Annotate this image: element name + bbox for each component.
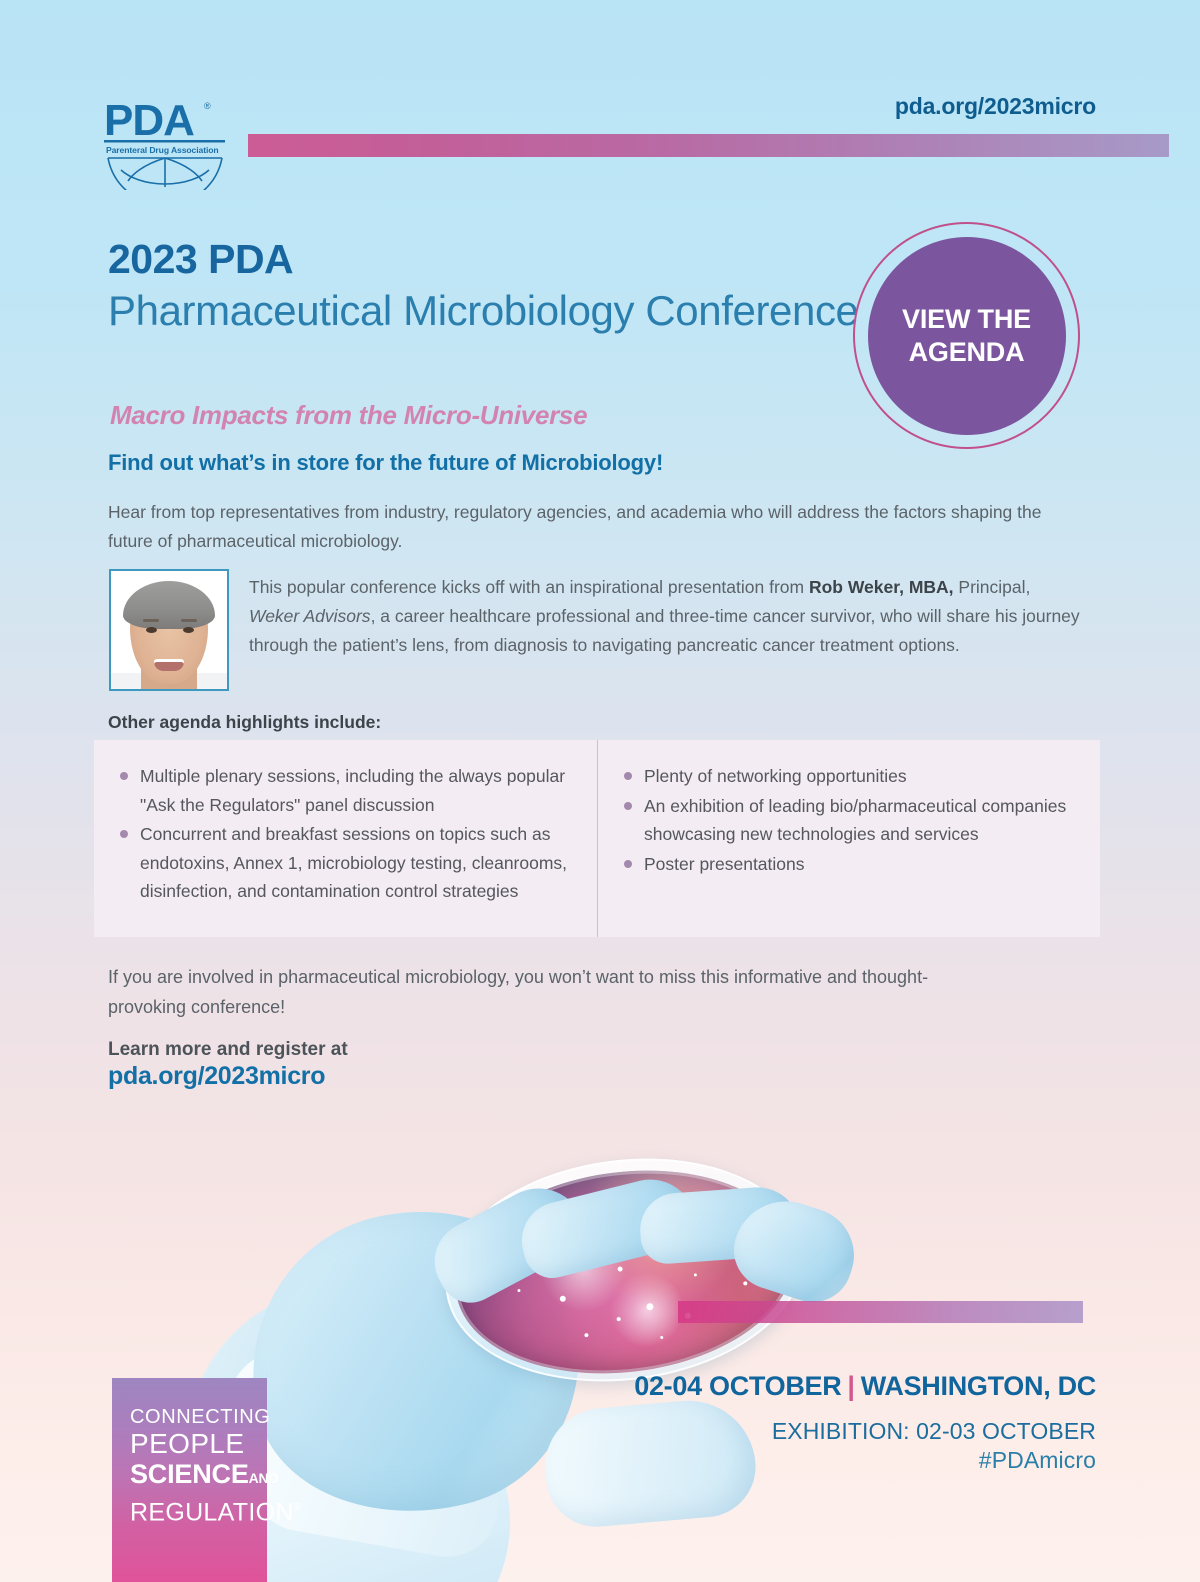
svg-text:PDA: PDA [104,96,194,145]
view-agenda-button[interactable]: VIEW THE AGENDA [853,222,1080,449]
speaker-role-before: Principal, [954,577,1031,597]
page-title: Pharmaceutical Microbiology Conference [108,285,868,336]
list-item: An exhibition of leading bio/pharmaceuti… [622,792,1082,849]
speaker-name: Rob Weker, MBA, [809,577,954,597]
glove-lower-finger-2 [243,1419,507,1565]
svg-text:®: ® [204,101,211,111]
tagline-line-3: SCIENCEAND [130,1459,267,1494]
closing-paragraph: If you are involved in pharmaceutical mi… [108,962,988,1022]
glove-finger-2 [514,1170,702,1284]
brand-tagline-box: CONNECTING PEOPLE SCIENCEAND REGULATION® [112,1378,267,1582]
petri-dish-glare [444,1152,806,1392]
pda-logo[interactable]: PDA ® Parenteral Drug Association [104,95,234,190]
view-agenda-label-line1: VIEW THE [902,304,1031,334]
speaker-brow-left [143,619,159,622]
tagline-and: AND [249,1470,279,1486]
highlights-panel: Multiple plenary sessions, including the… [94,740,1100,937]
speaker-paragraph: This popular conference kicks off with a… [249,573,1081,660]
register-url[interactable]: pda.org/2023micro [108,1062,325,1091]
event-hashtag: #PDAmicro [979,1447,1096,1474]
glove-finger-1 [421,1172,594,1314]
speaker-text-before: This popular conference kicks off with a… [249,577,809,597]
highlights-list-right: Plenty of networking opportunities An ex… [622,762,1082,878]
view-agenda-button-inner: VIEW THE AGENDA [868,237,1066,435]
event-dates-location: 02-04 OCTOBER|WASHINGTON, DC [634,1371,1096,1402]
tagline-line-2: PEOPLE [130,1429,267,1459]
lead-headline: Find out what’s in store for the future … [108,450,663,476]
glove-palm [219,1177,612,1548]
speaker-hair [123,581,215,629]
list-item: Concurrent and breakfast sessions on top… [118,820,579,906]
view-agenda-label-line2: AGENDA [909,337,1025,367]
speaker-eye-right [183,627,194,633]
title-tagline: Macro Impacts from the Micro-Universe [110,400,587,431]
event-location: WASHINGTON, DC [861,1371,1096,1401]
highlights-column-left: Multiple plenary sessions, including the… [94,740,597,937]
speaker-company: Weker Advisors [249,606,371,626]
exhibition-dates: EXHIBITION: 02-03 OCTOBER [772,1418,1096,1445]
svg-text:Parenteral Drug Association: Parenteral Drug Association [106,145,219,155]
speaker-avatar [109,569,229,691]
registered-mark: ® [294,1502,302,1514]
tagline-line-4: REGULATION® [130,1494,267,1527]
glove-thumb [540,1395,759,1531]
title-eyebrow: 2023 PDA [108,236,293,283]
petri-dish-rim [433,1139,817,1401]
highlights-title: Other agenda highlights include: [108,712,381,733]
petri-dish-galaxy [444,1152,806,1392]
speaker-mouth [154,659,184,671]
list-item: Poster presentations [622,850,1082,879]
speaker-text-after: , a career healthcare professional and t… [249,606,1080,655]
glove-finger-3 [638,1185,802,1266]
tagline-line-1: CONNECTING [130,1406,267,1429]
register-label: Learn more and register at [108,1036,348,1063]
separator: | [841,1371,860,1401]
highlights-column-right: Plenty of networking opportunities An ex… [597,740,1100,937]
highlights-list-left: Multiple plenary sessions, including the… [118,762,579,906]
speaker-brow-right [181,619,197,622]
intro-paragraph: Hear from top representatives from indus… [108,498,1080,556]
petri-dish [444,1152,806,1392]
event-dates: 02-04 OCTOBER [634,1371,841,1401]
speaker-eye-left [146,627,157,633]
header-url[interactable]: pda.org/2023micro [895,93,1096,120]
list-item: Plenty of networking opportunities [622,762,1082,791]
tagline-science: SCIENCE [130,1459,249,1489]
glove-finger-4 [724,1188,867,1313]
bottom-accent-bar [678,1301,1083,1323]
list-item: Multiple plenary sessions, including the… [118,762,579,819]
top-accent-bar [248,134,1169,157]
tagline-regulation: REGULATION [130,1498,294,1526]
